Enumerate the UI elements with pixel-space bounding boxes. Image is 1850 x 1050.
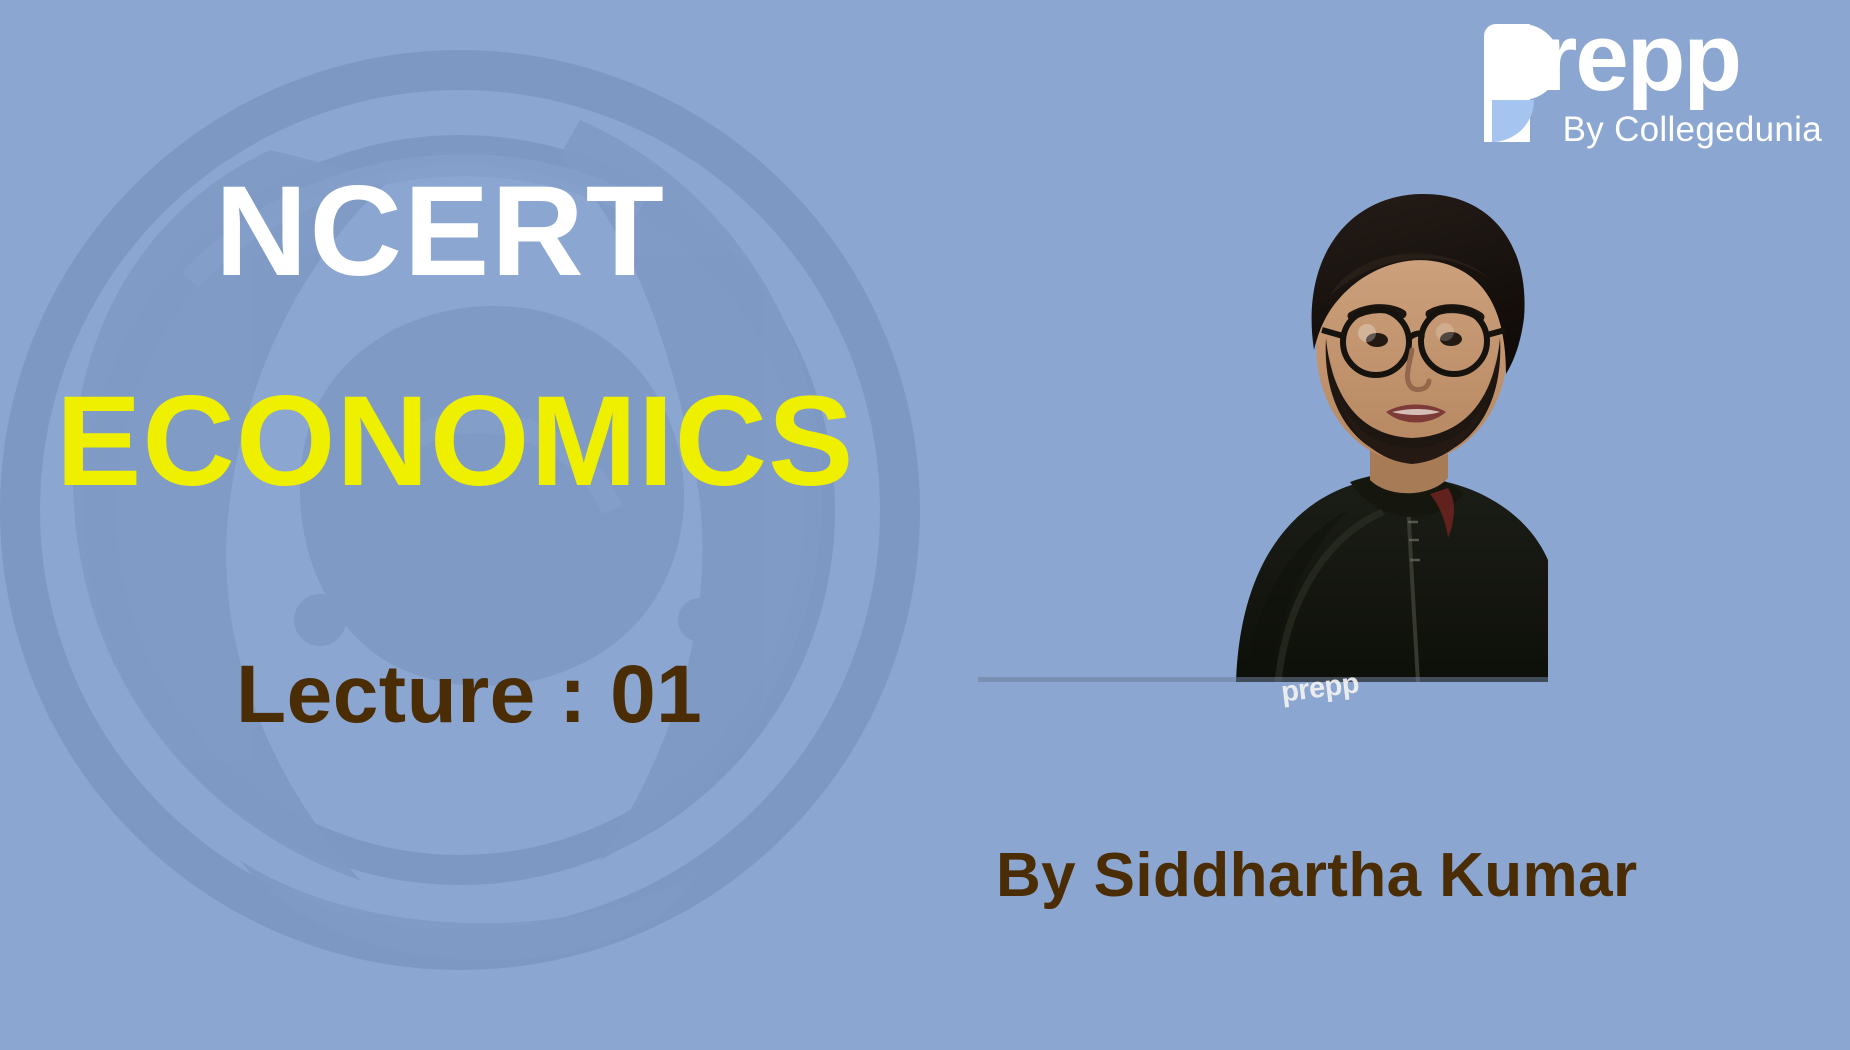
brand-wordmark: repp xyxy=(1540,10,1740,106)
presenter-name-label: By Siddhartha Kumar xyxy=(996,840,1638,911)
prepp-brand-logo: repp By Collegedunia xyxy=(1484,14,1824,150)
lecture-number-label: Lecture : 01 xyxy=(236,654,702,736)
page-title-ncert: NCERT xyxy=(215,168,666,296)
presenter-portrait xyxy=(978,150,1548,682)
page-subtitle-subject: ECONOMICS xyxy=(56,378,854,506)
brand-tagline: By Collegedunia xyxy=(1563,110,1822,150)
presenter-video-frame xyxy=(978,150,1548,682)
video-bottom-edge xyxy=(978,677,1548,682)
background-watermark-logo xyxy=(0,0,1000,1050)
lecture-title-slide: repp By Collegedunia NCERT ECONOMICS Lec… xyxy=(0,0,1850,1050)
